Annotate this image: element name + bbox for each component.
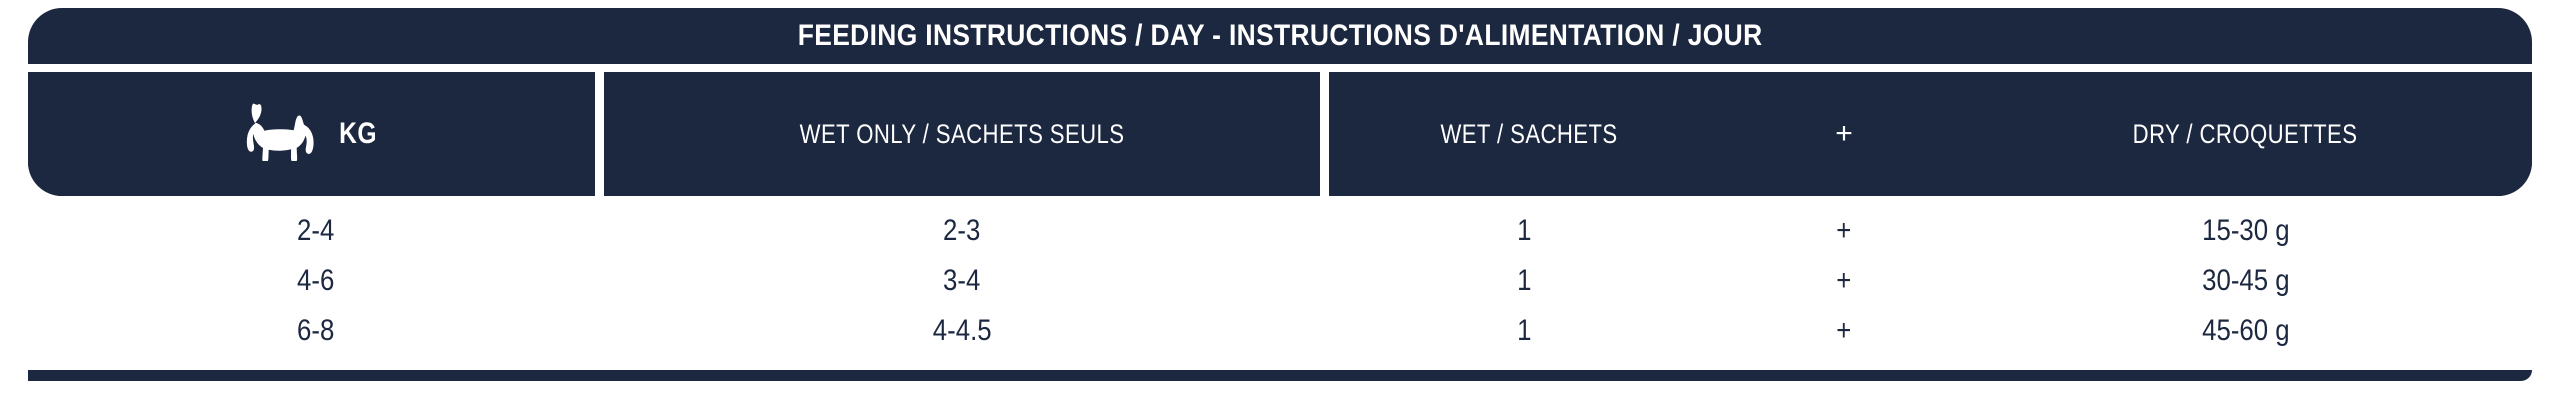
column-header-kg: KG: [28, 72, 595, 196]
cell-dry-value: 15-30 g: [2202, 214, 2290, 248]
cell-wet-only: 4-4.5: [604, 306, 1320, 356]
title-divider: [28, 64, 2532, 72]
column-header-row: KG WET ONLY / SACHETS SEULS WET / SACHET…: [28, 72, 2532, 196]
cell-plus-value: +: [1836, 214, 1851, 248]
cell-kg-value: 2-4: [297, 214, 334, 248]
column-header-wet: WET / SACHETS: [1329, 119, 1729, 150]
column-header-wet-only-label: WET ONLY / SACHETS SEULS: [800, 119, 1125, 150]
cell-wet-only-value: 3-4: [943, 264, 980, 298]
cell-dry: 15-30 g: [1959, 206, 2532, 256]
table-bottom-rule: [28, 370, 2532, 381]
cell-plus-value: +: [1836, 314, 1851, 348]
column-header-plus: +: [1729, 117, 1959, 151]
cell-wet-only-value: 4-4.5: [933, 314, 992, 348]
cell-wet: 1: [1320, 256, 1729, 306]
cell-kg-value: 4-6: [297, 264, 334, 298]
cell-kg: 2-4: [28, 206, 604, 256]
column-header-kg-label: KG: [339, 117, 377, 151]
table-row: 4-6 3-4 1 + 30-45 g: [28, 256, 2532, 306]
column-divider-2: [1320, 72, 1329, 196]
cell-wet-value: 1: [1517, 264, 1531, 298]
column-divider-1: [595, 72, 604, 196]
column-header-wet-label: WET / SACHETS: [1440, 119, 1617, 150]
cell-wet-only: 2-3: [604, 206, 1320, 256]
cell-wet-only: 3-4: [604, 256, 1320, 306]
cell-plus: +: [1729, 306, 1959, 356]
cell-dry-value: 45-60 g: [2202, 314, 2290, 348]
cell-plus: +: [1729, 206, 1959, 256]
page-title: FEEDING INSTRUCTIONS / DAY - INSTRUCTION…: [798, 19, 1763, 53]
column-header-wet-only: WET ONLY / SACHETS SEULS: [604, 72, 1320, 196]
cell-dry: 30-45 g: [1959, 256, 2532, 306]
table-body: 2-4 2-3 1 + 15-30 g 4-6 3-4 1 + 30-45 g …: [28, 200, 2532, 366]
table-header-block: FEEDING INSTRUCTIONS / DAY - INSTRUCTION…: [28, 8, 2532, 196]
cell-wet: 1: [1320, 306, 1729, 356]
cell-plus-value: +: [1836, 264, 1851, 298]
cell-kg: 6-8: [28, 306, 604, 356]
cell-wet-value: 1: [1517, 314, 1531, 348]
cell-wet: 1: [1320, 206, 1729, 256]
cell-dry: 45-60 g: [1959, 306, 2532, 356]
column-header-plus-label: +: [1835, 117, 1853, 151]
cell-kg-value: 6-8: [297, 314, 334, 348]
column-header-dry-label: DRY / CROQUETTES: [2133, 119, 2358, 150]
feeding-instructions-table: FEEDING INSTRUCTIONS / DAY - INSTRUCTION…: [0, 0, 2560, 402]
column-header-wet-plus-dry: WET / SACHETS + DRY / CROQUETTES: [1329, 72, 2532, 196]
table-row: 2-4 2-3 1 + 15-30 g: [28, 206, 2532, 256]
cell-wet-value: 1: [1517, 214, 1531, 248]
cell-wet-only-value: 2-3: [943, 214, 980, 248]
table-title-bar: FEEDING INSTRUCTIONS / DAY - INSTRUCTION…: [28, 8, 2532, 64]
column-header-dry: DRY / CROQUETTES: [1959, 119, 2532, 150]
cat-icon: [243, 103, 321, 166]
cell-dry-value: 30-45 g: [2202, 264, 2290, 298]
cell-kg: 4-6: [28, 256, 604, 306]
cell-plus: +: [1729, 256, 1959, 306]
table-row: 6-8 4-4.5 1 + 45-60 g: [28, 306, 2532, 356]
